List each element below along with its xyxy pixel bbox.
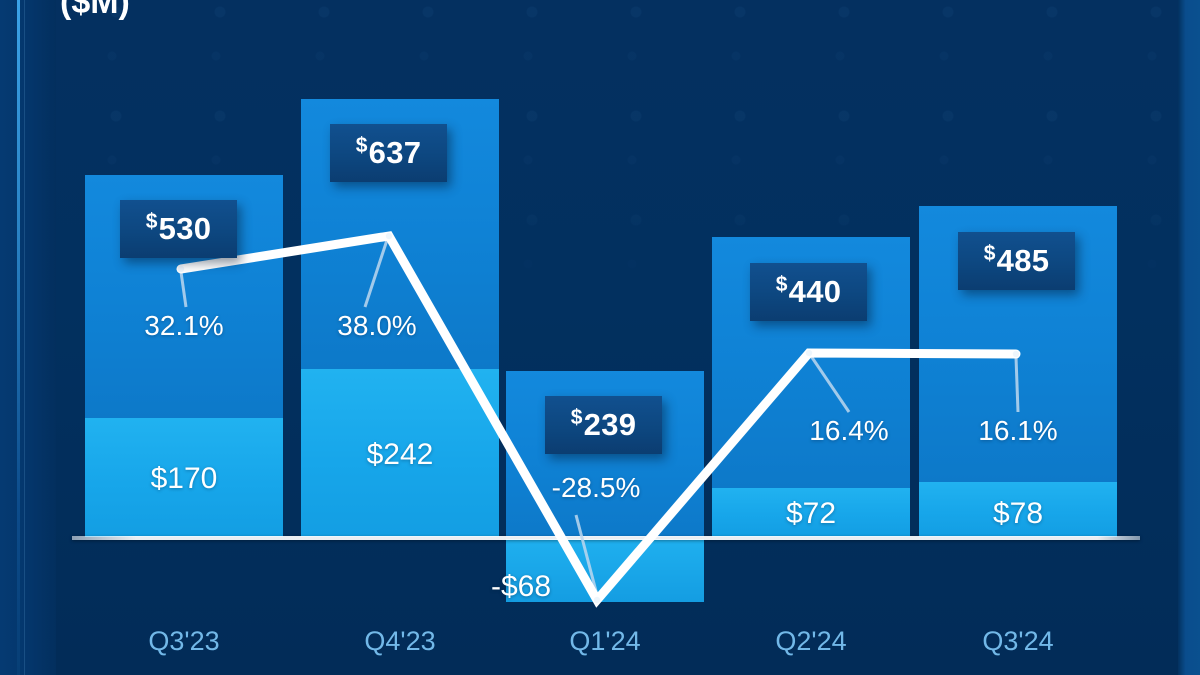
leader-line-q3-24 (1016, 357, 1018, 412)
total-callout-q3-23[interactable]: $ 530 (120, 200, 237, 258)
total-value: 239 (584, 407, 637, 443)
currency-symbol: $ (776, 273, 788, 297)
total-value: 530 (159, 211, 212, 247)
total-callout-q3-24[interactable]: $ 485 (958, 232, 1075, 290)
percent-label-q1-24: -28.5% (497, 472, 695, 504)
percent-label-q3-23: 32.1% (85, 310, 283, 342)
segment-label-q3-23: $170 (85, 462, 283, 496)
axis-tick-q4-23: Q4'23 (301, 626, 499, 657)
leader-line-q3-23 (181, 272, 186, 307)
chart-canvas: ($M) (0, 0, 1200, 675)
negative-value-label-q1-24: -$68 (491, 570, 551, 604)
segment-label-q4-23: $242 (301, 438, 499, 472)
currency-symbol: $ (984, 242, 996, 266)
axis-tick-q3-23: Q3'23 (85, 626, 283, 657)
total-callout-q2-24[interactable]: $ 440 (750, 263, 867, 321)
axis-tick-q3-24: Q3'24 (919, 626, 1117, 657)
total-value: 637 (369, 135, 422, 171)
total-value: 485 (997, 243, 1050, 279)
vertex-q4-23 (386, 233, 392, 239)
vertex-q3-24 (1013, 351, 1019, 357)
currency-symbol: $ (571, 406, 583, 430)
currency-symbol: $ (146, 210, 158, 234)
currency-symbol: $ (356, 134, 368, 158)
vertex-q2-24 (806, 350, 812, 356)
total-callout-q1-24[interactable]: $ 239 (545, 396, 662, 454)
axis-tick-q2-24: Q2'24 (712, 626, 910, 657)
axis-tick-q1-24: Q1'24 (506, 626, 704, 657)
total-callout-q4-23[interactable]: $ 637 (330, 124, 447, 182)
percent-label-q3-24: 16.1% (919, 415, 1117, 447)
percent-label-q4-23: 38.0% (278, 310, 476, 342)
total-value: 440 (789, 274, 842, 310)
vertex-q1-24 (594, 597, 600, 603)
segment-label-q2-24: $72 (712, 497, 910, 531)
leader-line-q2-24 (811, 356, 849, 412)
segment-label-q3-24: $78 (919, 497, 1117, 531)
leader-line-q4-23 (365, 240, 387, 307)
vertex-q3-23 (178, 266, 184, 272)
